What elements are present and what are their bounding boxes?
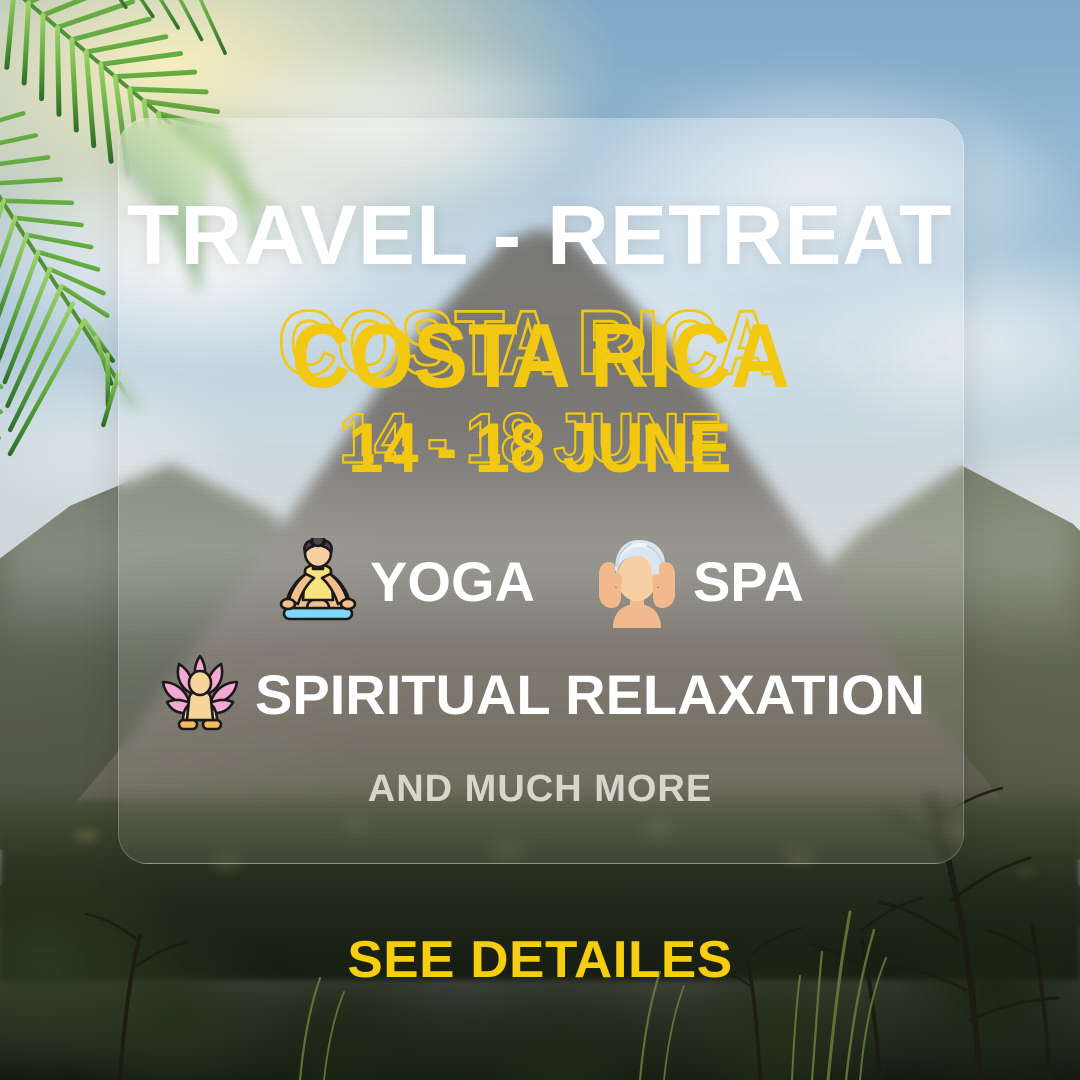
- destination-title-text: COSTA RICA: [291, 304, 790, 405]
- feature-label-spiritual-relaxation: SPIRITUAL RELAXATION: [255, 667, 925, 723]
- woman-in-lotus-position-icon: [276, 538, 360, 626]
- feature-row-primary: YOGA: [276, 536, 804, 628]
- poster-canvas: TRAVEL - RETREAT COSTA RICA COSTA RICA 1…: [0, 0, 1080, 1080]
- page-title: TRAVEL - RETREAT: [127, 196, 953, 276]
- feature-spiritual-relaxation: SPIRITUAL RELAXATION: [155, 650, 925, 740]
- face-massage-icon: [591, 536, 683, 628]
- feature-label-spa: SPA: [693, 554, 804, 610]
- feature-row-secondary: SPIRITUAL RELAXATION: [155, 650, 925, 740]
- feature-label-yoga: YOGA: [370, 554, 535, 610]
- poster-content: TRAVEL - RETREAT COSTA RICA COSTA RICA 1…: [118, 118, 962, 862]
- date-range-text: 14 - 18 JUNE: [348, 409, 731, 488]
- see-details-link[interactable]: SEE DETAILES: [0, 930, 1080, 990]
- date-range: 14 - 18 JUNE 14 - 18 JUNE: [348, 413, 731, 484]
- lotus-meditation-icon: [155, 650, 245, 740]
- destination-title: COSTA RICA COSTA RICA: [291, 310, 790, 401]
- and-much-more-text: AND MUCH MORE: [368, 768, 712, 811]
- feature-spa: SPA: [591, 536, 804, 628]
- feature-yoga: YOGA: [276, 538, 535, 626]
